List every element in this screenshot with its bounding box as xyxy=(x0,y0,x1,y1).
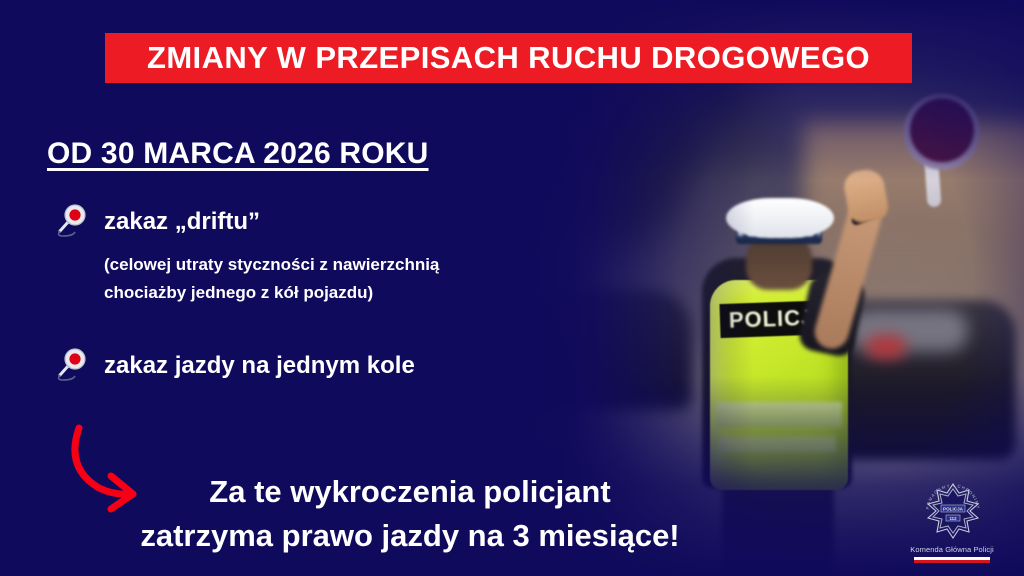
list-item-label: zakaz „driftu” xyxy=(104,205,260,239)
poster-root: POLICJA ZMIANY W PRZEPISACH RUCHU DROGOW… xyxy=(0,0,1024,576)
svg-text:POLICJA: POLICJA xyxy=(943,507,964,512)
penalty-statement-line-2: zatrzyma prawo jazdy na 3 miesiące! xyxy=(60,514,760,558)
police-logo: POLICJA 112 POMAGAMY I CHRONIMY Komenda … xyxy=(898,480,1006,568)
headline-title: ZMIANY W PRZEPISACH RUCHU DROGOWEGO xyxy=(147,40,870,76)
police-star-badge-icon: POLICJA 112 POMAGAMY I CHRONIMY xyxy=(922,480,984,542)
list-item: zakaz jazdy na jednym kole xyxy=(52,349,552,385)
effective-date-subtitle: OD 30 MARCA 2026 ROKU xyxy=(47,137,429,171)
police-baton-icon xyxy=(52,345,92,385)
police-baton-icon xyxy=(52,201,92,241)
svg-text:112: 112 xyxy=(949,516,957,521)
photo-top-fade xyxy=(504,0,1024,180)
list-item-label: zakaz jazdy na jednym kole xyxy=(104,349,415,383)
list-item-note: (celowej utraty styczności z nawierzchni… xyxy=(104,251,552,307)
polish-flag-bar xyxy=(914,557,990,563)
list-item: zakaz „driftu” xyxy=(52,205,552,241)
penalty-statement-line-1: Za te wykroczenia policjant xyxy=(209,474,610,509)
list-spacer xyxy=(52,307,552,349)
list-item-note-line-1: (celowej utraty styczności z nawierzchni… xyxy=(104,255,439,274)
penalty-statement: Za te wykroczenia policjant zatrzyma pra… xyxy=(60,470,760,558)
list-item-note-line-2: chociażby jednego z kół pojazdu) xyxy=(104,283,373,302)
rules-list: zakaz „driftu” (celowej utraty stycznośc… xyxy=(52,205,552,385)
police-logo-caption: Komenda Główna Policji xyxy=(898,545,1006,554)
headline-banner: ZMIANY W PRZEPISACH RUCHU DROGOWEGO xyxy=(105,33,912,83)
